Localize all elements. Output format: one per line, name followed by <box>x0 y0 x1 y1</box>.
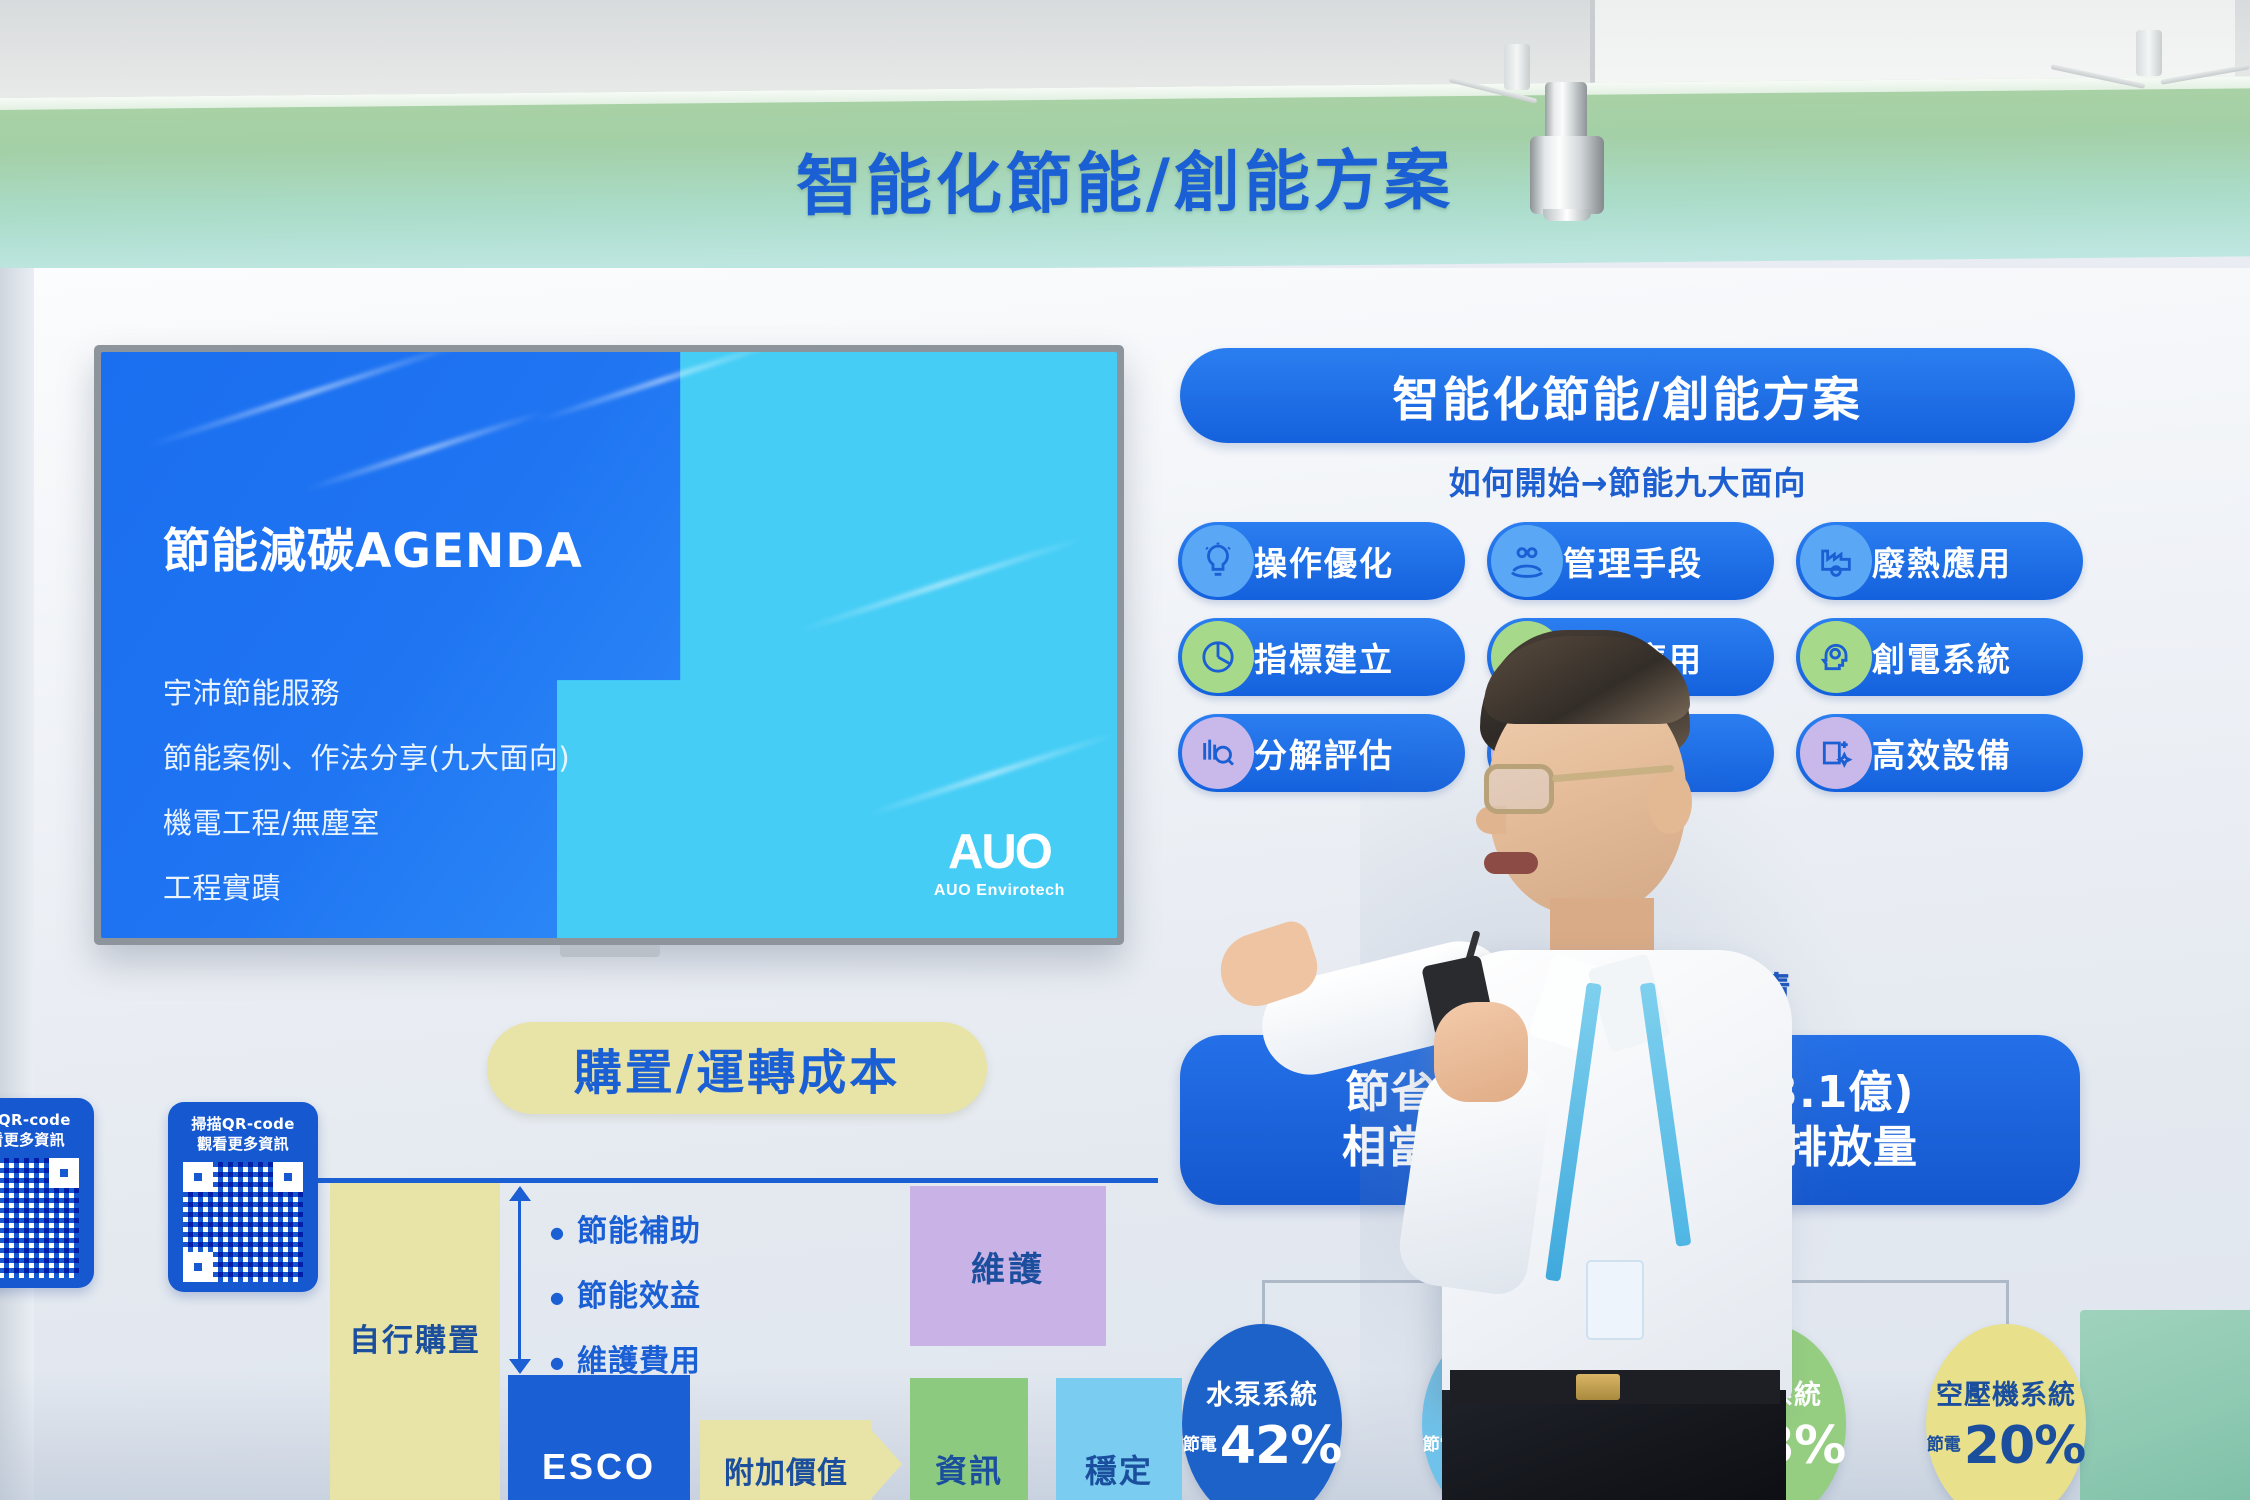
chip-label: 創電系統 <box>1872 633 2012 681</box>
cost-section-title-pill: 購置/運轉成本 <box>487 1022 987 1114</box>
bar-esco: ESCO <box>508 1375 690 1500</box>
tv-stand <box>560 945 660 957</box>
presenter-trousers <box>1442 1390 1786 1500</box>
oval-system-name: 水泵系統 <box>1206 1373 1318 1412</box>
tv-display[interactable]: 節能減碳AGENDA 宇沛節能服務 節能案例、作法分享(九大面向) 機電工程/無… <box>94 345 1124 945</box>
slide-agenda-list: 宇沛節能服務 節能案例、作法分享(九大面向) 機電工程/無塵室 工程實蹟 <box>163 670 570 930</box>
presenter-ear <box>1648 770 1692 834</box>
wall-left-edge <box>0 268 34 1500</box>
presenter-hand-holding-mic <box>1434 1002 1528 1102</box>
magnifier-analysis-icon <box>1182 717 1254 789</box>
cost-comparison-chart: 自行購置 節能補助 節能效益 維護費用 ESCO 附加價值 維護 資訊 穩定 <box>318 1178 1158 1500</box>
cost-bullet: 維護費用 <box>550 1336 701 1380</box>
bar-self-purchase: 自行購置 <box>330 1183 500 1500</box>
tag-added-value-label: 附加價值 <box>724 1448 848 1492</box>
qr-code-icon[interactable] <box>183 1162 303 1282</box>
tv-screen: 節能減碳AGENDA 宇沛節能服務 節能案例、作法分享(九大面向) 機電工程/無… <box>101 352 1117 938</box>
savings-oval-air-compressor: 空壓機系統 節電 20% <box>1926 1324 2086 1500</box>
oval-prefix: 節電 <box>1183 1437 1217 1453</box>
belt-buckle <box>1576 1374 1620 1400</box>
chip-label: 高效設備 <box>1872 729 2012 777</box>
chip-label: 廢熱應用 <box>1872 537 2012 585</box>
oval-value: 42% <box>1220 1416 1341 1476</box>
spotlight-lens <box>1543 209 1591 221</box>
tag-added-value: 附加價值 <box>700 1420 872 1500</box>
chip-label: 管理手段 <box>1563 537 1703 585</box>
glasses-icon <box>1484 764 1554 814</box>
agenda-item: 機電工程/無塵室 <box>163 800 570 842</box>
qr-card-left[interactable]: 掃描QR-code 觀看更多資訊 <box>0 1098 94 1288</box>
poster-header-pill: 智能化節能/創能方案 <box>1180 348 2075 443</box>
cost-bullet-list: 節能補助 節能效益 維護費用 <box>550 1206 701 1401</box>
qr-card-line2: 觀看更多資訊 <box>0 1130 84 1150</box>
oval-value: 20% <box>1964 1416 2085 1476</box>
block-information: 資訊 <box>910 1378 1028 1500</box>
savings-oval-pump: 水泵系統 節電 42% <box>1182 1324 1342 1500</box>
oval-connector <box>2006 1280 2009 1324</box>
oval-connector <box>1262 1280 1265 1324</box>
chip-management-method[interactable]: 管理手段 <box>1487 522 1774 600</box>
people-hand-icon <box>1491 525 1563 597</box>
exhibition-booth-scene: 智能化節能/創能方案 節能減碳AGENDA 宇沛節能服務 節能案例、作法分享(九… <box>0 0 2250 1500</box>
block-maintenance: 維護 <box>910 1186 1106 1346</box>
presenter <box>1380 630 1860 1500</box>
auo-logo-subtitle: AUO Envirotech <box>934 882 1065 900</box>
savings-arrow-icon <box>518 1188 521 1372</box>
qr-card-line2: 觀看更多資訊 <box>178 1134 308 1154</box>
pie-chart-icon <box>1182 621 1254 693</box>
bar-self-purchase-label: 自行購置 <box>349 1321 481 1363</box>
block-maintenance-label: 維護 <box>971 1242 1045 1291</box>
factory-gear-icon <box>1800 525 1872 597</box>
badge-card <box>1586 1260 1644 1340</box>
block-information-label: 資訊 <box>935 1446 1003 1492</box>
agenda-item: 節能案例、作法分享(九大面向) <box>163 735 570 777</box>
lightbulb-icon <box>1182 525 1254 597</box>
chip-label: 指標建立 <box>1254 633 1394 681</box>
slide-title: 節能減碳AGENDA <box>163 512 583 581</box>
rail-clip-left <box>1504 44 1530 90</box>
slide-streak-1 <box>148 352 463 448</box>
block-stability-label: 穩定 <box>1085 1446 1153 1492</box>
poster-header-text: 智能化節能/創能方案 <box>1392 361 1862 430</box>
cost-section-title: 購置/運轉成本 <box>574 1033 901 1103</box>
agenda-item: 宇沛節能服務 <box>163 670 570 712</box>
auo-logo: AUO AUO Envirotech <box>934 824 1065 900</box>
auo-logo-word: AUO <box>934 824 1065 880</box>
oval-prefix: 節電 <box>1927 1437 1961 1453</box>
chip-operation-optimization[interactable]: 操作優化 <box>1178 522 1465 600</box>
floor-riser-block <box>2080 1310 2250 1500</box>
qr-code-icon[interactable] <box>0 1158 79 1278</box>
block-stability: 穩定 <box>1056 1378 1182 1500</box>
chip-label: 分解評估 <box>1254 729 1394 777</box>
chip-label: 操作優化 <box>1254 537 1394 585</box>
agenda-item: 工程實蹟 <box>163 865 570 907</box>
chip-waste-heat-application[interactable]: 廢熱應用 <box>1796 522 2083 600</box>
presenter-mouth <box>1484 852 1538 874</box>
spotlight-icon <box>1545 82 1587 142</box>
poster-subtitle: 如何開始→節能九大面向 <box>1180 458 2075 504</box>
qr-card-line1: 掃描QR-code <box>178 1114 308 1134</box>
cost-bullet: 節能補助 <box>550 1206 701 1250</box>
cost-bullet: 節能效益 <box>550 1271 701 1315</box>
qr-card-line1: 掃描QR-code <box>0 1110 84 1130</box>
bar-esco-label: ESCO <box>542 1446 656 1488</box>
spotlight-head <box>1530 136 1604 214</box>
slide-streak-2 <box>306 409 545 491</box>
qr-card-right[interactable]: 掃描QR-code 觀看更多資訊 <box>168 1102 318 1292</box>
rail-clip-right <box>2136 30 2162 76</box>
oval-system-name: 空壓機系統 <box>1936 1373 2076 1412</box>
